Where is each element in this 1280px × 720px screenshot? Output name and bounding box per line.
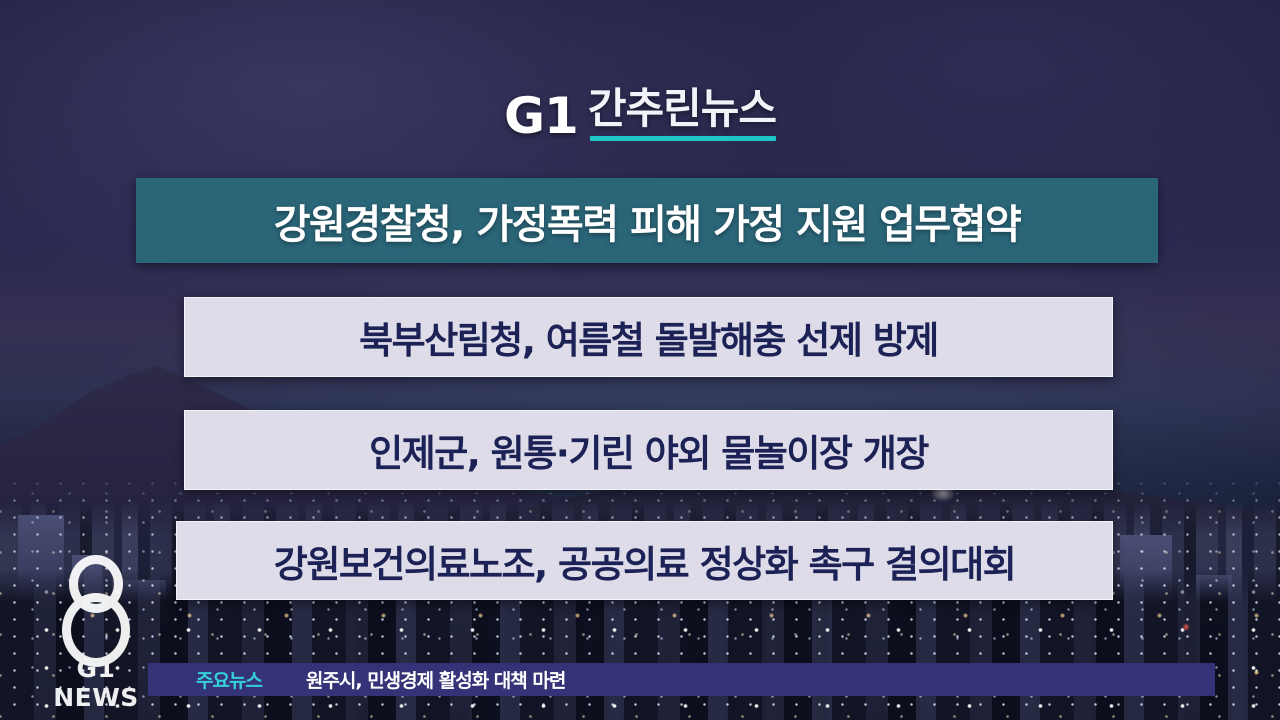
- city-red-light: [1182, 623, 1190, 631]
- headline-text: 북부산림청, 여름철 돌발해충 선제 방제: [359, 310, 938, 364]
- headline-text: 강원보건의료노조, 공공의료 정상화 촉구 결의대회: [274, 534, 1015, 588]
- ticker-headline-text: 원주시, 민생경제 활성화 대책 마련: [306, 666, 565, 693]
- ticker-category-label: 주요뉴스: [196, 666, 262, 693]
- headline-bar-3[interactable]: 인제군, 원통·기린 야외 물놀이장 개장: [184, 410, 1113, 490]
- headline-text: 강원경찰청, 가정폭력 피해 가정 지원 업무협약: [274, 192, 1021, 250]
- headline-bar-lead[interactable]: 강원경찰청, 가정폭력 피해 가정 지원 업무협약: [136, 178, 1158, 263]
- broadcast-screen: G1 간추린뉴스 강원경찰청, 가정폭력 피해 가정 지원 업무협약 북부산림청…: [0, 0, 1280, 720]
- headline-bar-4[interactable]: 강원보건의료노조, 공공의료 정상화 촉구 결의대회: [176, 521, 1113, 600]
- news-ticker-bar[interactable]: 주요뉴스 원주시, 민생경제 활성화 대책 마련: [148, 663, 1215, 696]
- headline-text: 인제군, 원통·기린 야외 물놀이장 개장: [369, 423, 928, 477]
- headline-bar-2[interactable]: 북부산림청, 여름철 돌발해충 선제 방제: [184, 297, 1113, 377]
